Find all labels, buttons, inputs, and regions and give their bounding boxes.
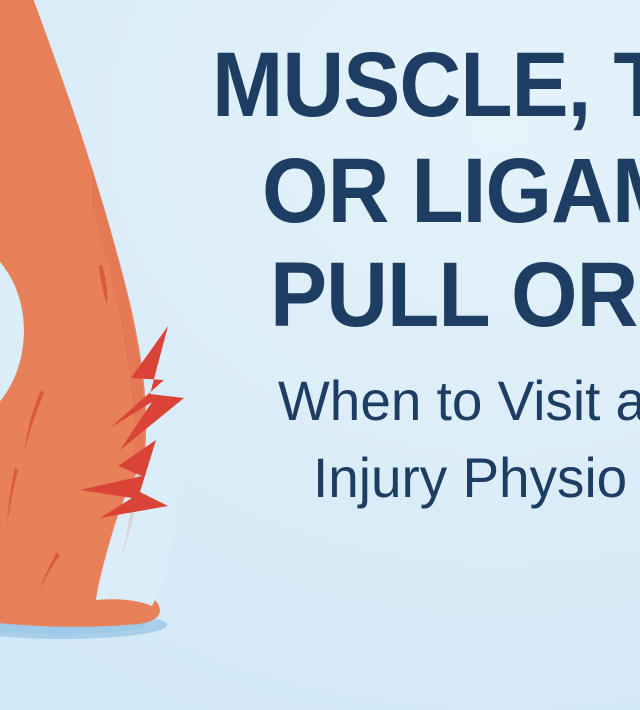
subheadline-line-1: When to Visit a — [278, 373, 640, 429]
subheadline-line-2: Injury Physio — [313, 450, 627, 506]
banner-text-block: MUSCLE, TE OR LIGAME PULL OR T When to V… — [0, 0, 640, 710]
injury-physio-banner: MUSCLE, TE OR LIGAME PULL OR T When to V… — [0, 0, 640, 710]
headline-line-2: OR LIGAME — [262, 145, 640, 237]
headline-line-3: PULL OR T — [270, 249, 640, 341]
headline-line-1: MUSCLE, TE — [212, 39, 640, 131]
